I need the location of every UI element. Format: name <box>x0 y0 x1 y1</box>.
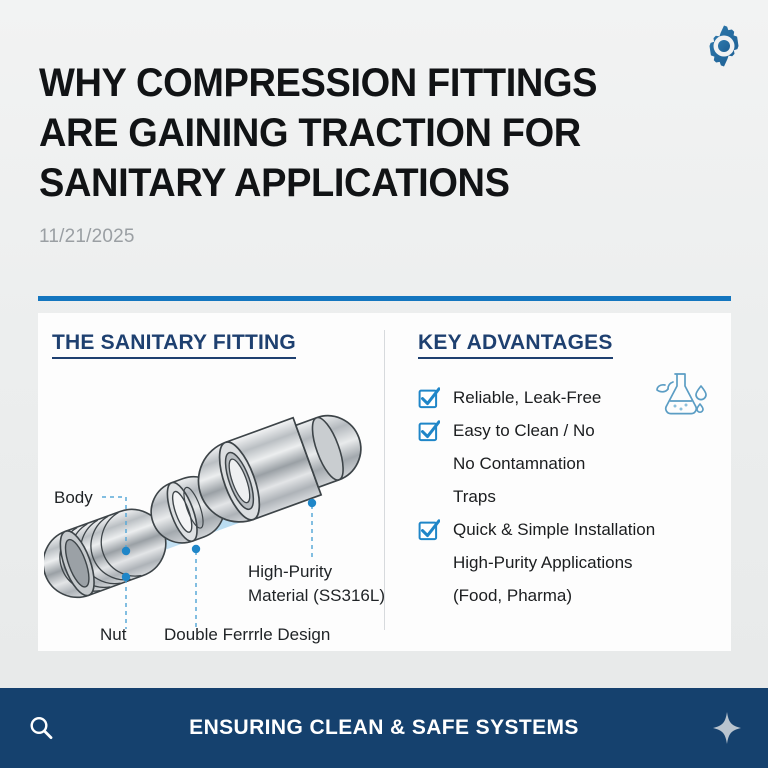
diagram-label-nut: Nut <box>100 625 127 644</box>
list-item[interactable]: Quick & Simple Installation <box>418 517 731 543</box>
content-card: THE SANITARY FITTING <box>38 313 731 651</box>
diagram-label-body: Body <box>54 488 93 507</box>
diagram-part-body <box>187 399 373 534</box>
flask-icon <box>653 368 709 420</box>
accent-rule <box>38 296 731 301</box>
left-section-title: THE SANITARY FITTING <box>52 331 296 359</box>
page-title: WHY COMPRESSION FITTINGS ARE GAINING TRA… <box>39 58 657 208</box>
gear-icon <box>700 22 748 70</box>
list-item-continuation: (Food, Pharma) <box>418 583 731 609</box>
checkbox-icon[interactable] <box>418 387 440 409</box>
list-item-continuation: No Contamnation <box>418 451 731 477</box>
footer-tagline: ENSURING CLEAN & SAFE SYSTEMS <box>0 716 768 740</box>
advantage-text: No Contamnation <box>453 451 585 477</box>
infographic-poster: WHY COMPRESSION FITTINGS ARE GAINING TRA… <box>0 0 768 768</box>
right-section-title: KEY ADVANTAGES <box>418 331 613 359</box>
advantage-text: Traps <box>453 484 496 510</box>
checkbox-icon[interactable] <box>418 519 440 541</box>
list-item-continuation: High-Purity Applications <box>418 550 731 576</box>
advantage-text: Easy to Clean / No <box>453 418 595 444</box>
diagram-label-material-2: Material (SS316L) <box>248 586 384 605</box>
search-icon[interactable] <box>28 715 54 741</box>
list-item-continuation: Traps <box>418 484 731 510</box>
advantage-text: Quick & Simple Installation <box>453 517 655 543</box>
right-column: KEY ADVANTAGES <box>384 313 731 651</box>
diagram-label-ferrule: Double Ferrrle Design <box>164 625 330 644</box>
publish-date: 11/21/2025 <box>39 226 135 248</box>
advantage-text: Reliable, Leak-Free <box>453 385 601 411</box>
fitting-diagram: Body Nut Double Ferrrle Design High-Puri… <box>44 365 384 645</box>
left-column: THE SANITARY FITTING <box>38 313 384 651</box>
advantage-text: High-Purity Applications <box>453 550 633 576</box>
footer-bar: ENSURING CLEAN & SAFE SYSTEMS <box>0 688 768 768</box>
sparkle-icon <box>712 711 742 745</box>
checkbox-icon[interactable] <box>418 420 440 442</box>
diagram-label-material-1: High-Purity <box>248 562 333 581</box>
advantage-text: (Food, Pharma) <box>453 583 572 609</box>
list-item[interactable]: Easy to Clean / No <box>418 418 731 444</box>
